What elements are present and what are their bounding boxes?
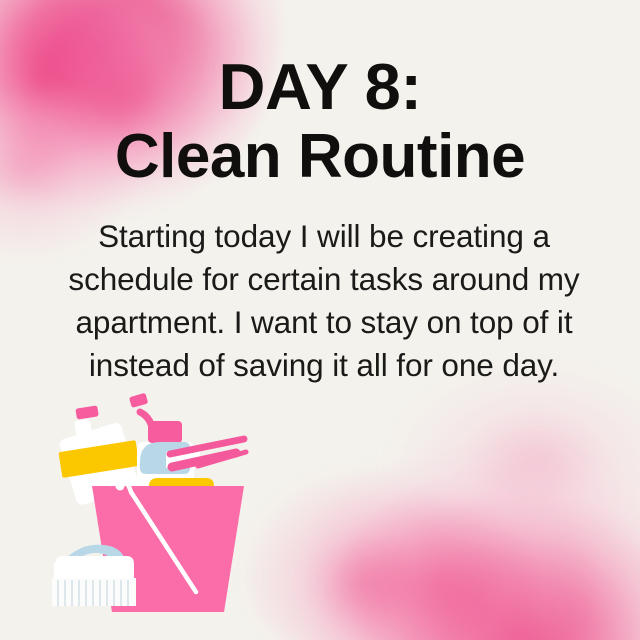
poster-canvas: DAY 8: Clean Routine Starting today I wi… xyxy=(0,0,640,640)
body-paragraph: Starting today I will be creating a sche… xyxy=(52,215,596,387)
body-line-2: schedule for certain tasks around my xyxy=(52,258,596,301)
cleaning-supplies-illustration xyxy=(48,390,278,620)
title-line-topic: Clean Routine xyxy=(0,122,640,191)
page-title: DAY 8: Clean Routine xyxy=(0,54,640,192)
body-line-4: instead of saving it all for one day. xyxy=(52,344,596,387)
body-line-1: Starting today I will be creating a xyxy=(52,215,596,258)
poster-content: DAY 8: Clean Routine Starting today I wi… xyxy=(0,0,640,640)
title-line-day: DAY 8: xyxy=(0,54,640,120)
body-line-3: apartment. I want to stay on top of it xyxy=(52,301,596,344)
